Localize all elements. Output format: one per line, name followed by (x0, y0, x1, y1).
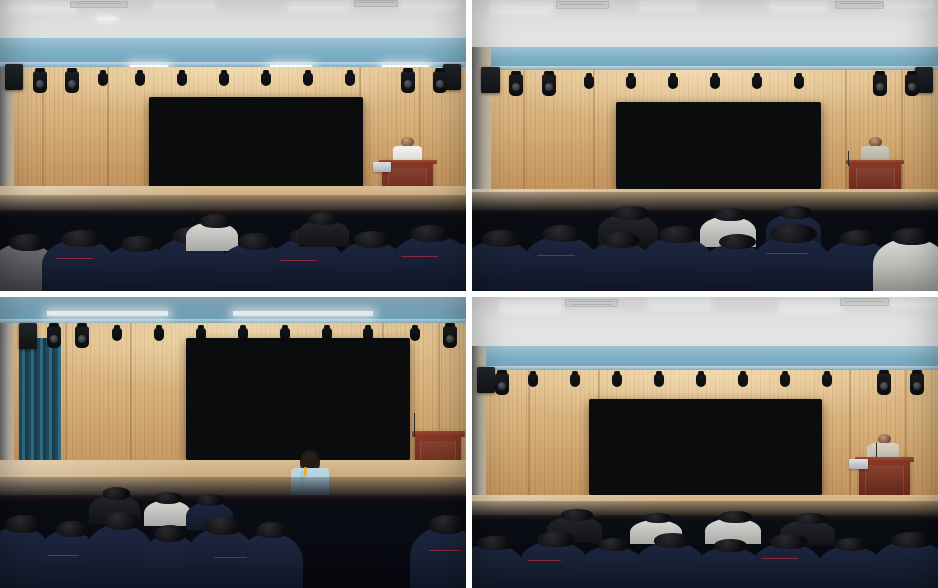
stage-light (822, 374, 832, 387)
stage-light (75, 326, 89, 348)
stage-light (509, 74, 523, 96)
stage-light (495, 373, 509, 395)
stage-light (135, 73, 145, 86)
stage-light (877, 373, 891, 395)
stage-light (696, 374, 706, 387)
stage-light (752, 76, 762, 89)
stage-light (905, 74, 919, 96)
stage-light (910, 373, 924, 395)
stage-light (98, 73, 108, 86)
stage-light (528, 374, 538, 387)
led-screen: TRƯỜNG ĐẠI HỌC QUY NHƠN KHOA KHOA HỌC TỰ… (616, 102, 821, 189)
ceiling-valance (0, 38, 466, 67)
stage-light (401, 71, 415, 93)
stage-light (47, 326, 61, 348)
led-screen: CHỦ ĐỀ KỸ NĂNG LẬP KẾ HOẠCH PHÁT TRIỂN B… (186, 338, 410, 460)
led-screen: THÁCH THỨC VIỆC LÀM LĨNH VỰC CÔNG NGHỆ Đ… (149, 97, 363, 187)
stage-light (345, 73, 355, 86)
photo-bottom-left: CHỦ ĐỀ KỸ NĂNG LẬP KẾ HOẠCH PHÁT TRIỂN B… (0, 297, 466, 588)
stage-light (873, 74, 887, 96)
stage-light (303, 73, 313, 86)
stage-light (584, 76, 594, 89)
stage-light (626, 76, 636, 89)
laptop (849, 459, 868, 469)
photo-top-left: THÁCH THỨC VIỆC LÀM LĨNH VỰC CÔNG NGHỆ Đ… (0, 0, 466, 291)
photo-collage: THÁCH THỨC VIỆC LÀM LĨNH VỰC CÔNG NGHỆ Đ… (0, 0, 938, 588)
stage-light (261, 73, 271, 86)
stage-light (177, 73, 187, 86)
stage-light (738, 374, 748, 387)
stage-light (794, 76, 804, 89)
photo-top-right: TRƯỜNG ĐẠI HỌC QUY NHƠN KHOA KHOA HỌC TỰ… (472, 0, 938, 291)
ceiling (472, 297, 938, 346)
ceiling (472, 0, 938, 47)
wall-speaker (5, 64, 24, 90)
stage-light (33, 71, 47, 93)
stage-light (410, 328, 420, 341)
stage-light (542, 74, 556, 96)
stage-light (612, 374, 622, 387)
ceiling-valance (472, 47, 938, 70)
stage-light (654, 374, 664, 387)
photo-bottom-right: 2. KINH NGHIỆM NGHIÊN CỨU KHOA HỌC Vận d… (472, 297, 938, 588)
stage-light (154, 328, 164, 341)
wall-speaker (481, 67, 500, 93)
stage-light (780, 374, 790, 387)
audience (0, 195, 466, 291)
ceiling-valance (0, 297, 466, 323)
laptop (373, 162, 392, 172)
stage-light (710, 76, 720, 89)
wall-speaker (477, 367, 496, 393)
stage-light (65, 71, 79, 93)
audience (472, 501, 938, 588)
wall-speaker (19, 323, 38, 349)
stage-light (433, 71, 447, 93)
audience (472, 192, 938, 291)
ceiling (0, 0, 466, 38)
ceiling-valance (472, 346, 938, 369)
led-screen: 2. KINH NGHIỆM NGHIÊN CỨU KHOA HỌC Vận d… (589, 399, 822, 495)
stage-curtain (19, 338, 61, 478)
audience (0, 477, 466, 588)
stage-light (668, 76, 678, 89)
stage-light (112, 328, 122, 341)
stage-light (570, 374, 580, 387)
stage-light (443, 326, 457, 348)
stage-light (219, 73, 229, 86)
